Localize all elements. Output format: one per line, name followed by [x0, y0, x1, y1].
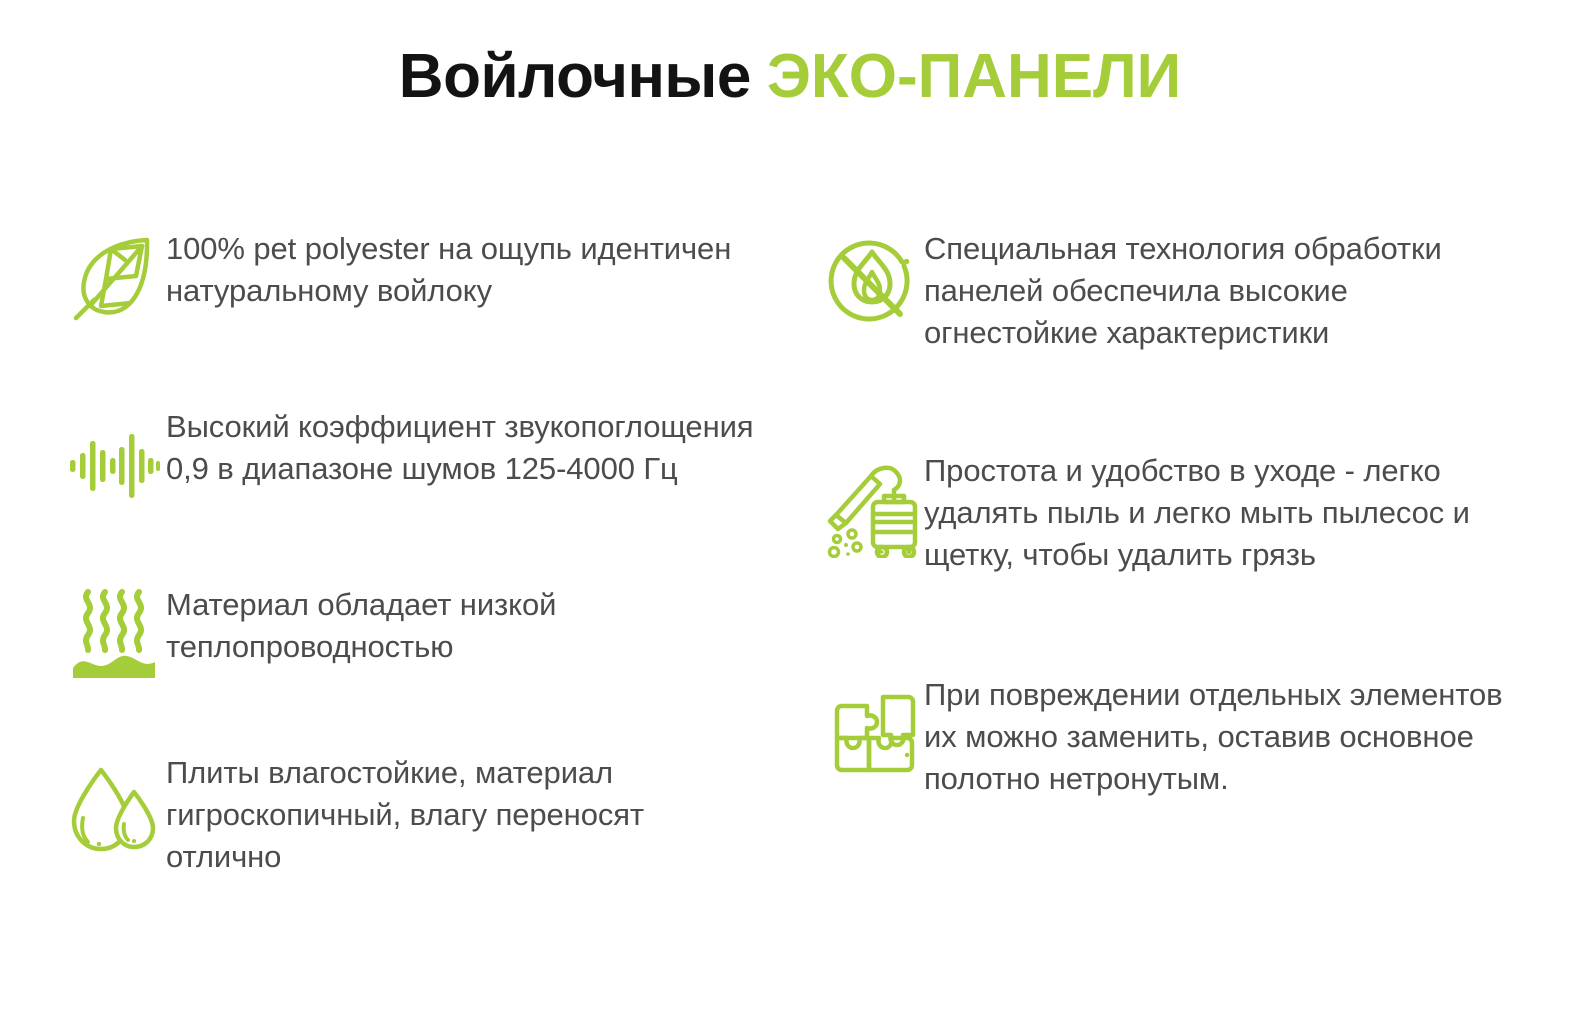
feature-item: Плиты влагостойкие, материал гигроскопич… [62, 746, 790, 878]
right-feature-column: Специальная технология обработки панелей… [790, 222, 1580, 800]
feature-item: Высокий коэффициент звукопоглощения 0,9 … [62, 400, 790, 518]
no-fire-icon [820, 234, 924, 338]
feature-text: 100% pet polyester на ощупь идентичен на… [166, 222, 766, 312]
vacuum-cleaner-icon [820, 458, 924, 562]
leaf-icon [62, 224, 166, 328]
water-drop-icon [62, 760, 166, 864]
feature-text: Материал обладает низкой теплопроводност… [166, 578, 766, 668]
heat-waves-icon [62, 580, 166, 684]
sound-wave-icon [62, 414, 166, 518]
feature-item: При повреждении отдельных элементов их м… [820, 668, 1580, 800]
feature-item: Материал обладает низкой теплопроводност… [62, 578, 790, 684]
title-main-text: Войлочные [399, 42, 751, 111]
feature-item: Специальная технология обработки панелей… [820, 222, 1580, 354]
feature-item: 100% pet polyester на ощупь идентичен на… [62, 222, 790, 328]
feature-columns: 100% pet polyester на ощупь идентичен на… [0, 222, 1580, 878]
feature-text: Специальная технология обработки панелей… [924, 222, 1504, 354]
feature-text: При повреждении отдельных элементов их м… [924, 668, 1504, 800]
left-feature-column: 100% pet polyester на ощупь идентичен на… [0, 222, 790, 878]
page-title: ВойлочныеЭКО-ПАНЕЛИ [0, 46, 1580, 108]
puzzle-pieces-icon [820, 682, 924, 786]
eco-panels-infographic: ВойлочныеЭКО-ПАНЕЛИ 100% pet polyester [0, 0, 1580, 1020]
feature-text: Высокий коэффициент звукопоглощения 0,9 … [166, 400, 766, 490]
title-accent-text: ЭКО-ПАНЕЛИ [767, 42, 1181, 111]
feature-text: Простота и удобство в уходе - легко удал… [924, 444, 1504, 576]
feature-item: Простота и удобство в уходе - легко удал… [820, 444, 1580, 576]
feature-text: Плиты влагостойкие, материал гигроскопич… [166, 746, 766, 878]
